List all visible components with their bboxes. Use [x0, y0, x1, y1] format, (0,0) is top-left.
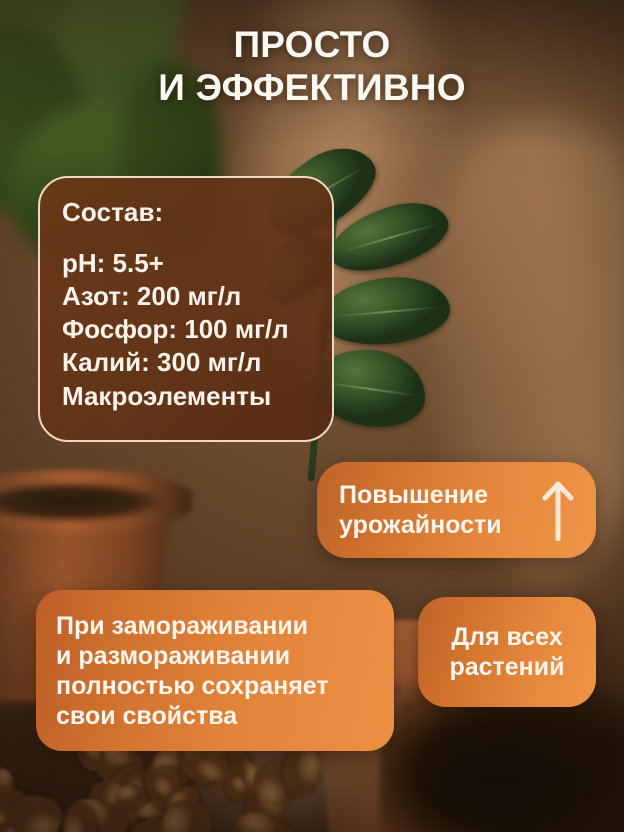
badge-freeze-resistant: При замораживании и размораживании полно…: [36, 590, 394, 751]
composition-heading: Состав:: [62, 198, 332, 227]
composition-line-ph: pH: 5.5+: [62, 247, 332, 280]
composition-line-nitrogen: Азот: 200 мг/л: [62, 280, 332, 313]
badge-yield-increase-label: Повышение урожайности: [339, 480, 502, 540]
badge-all-plants: Для всех растений: [418, 597, 596, 707]
promo-image: ПРОСТО И ЭФФЕКТИВНО Состав: pH: 5.5+ Азо…: [0, 0, 624, 832]
composition-card: Состав: pH: 5.5+ Азот: 200 мг/л Фосфор: …: [38, 176, 334, 442]
composition-line-potassium: Калий: 300 мг/л: [62, 346, 332, 379]
badge-freeze-resistant-label: При замораживании и размораживании полно…: [56, 611, 329, 731]
composition-line-phosphorus: Фосфор: 100 мг/л: [62, 313, 332, 346]
badge-all-plants-label: Для всех растений: [449, 622, 564, 682]
arrow-up-icon: [538, 479, 578, 541]
page-title: ПРОСТО И ЭФФЕКТИВНО: [0, 24, 624, 110]
composition-line-macro: Макроэлементы: [62, 380, 332, 413]
badge-yield-increase: Повышение урожайности: [317, 462, 596, 558]
